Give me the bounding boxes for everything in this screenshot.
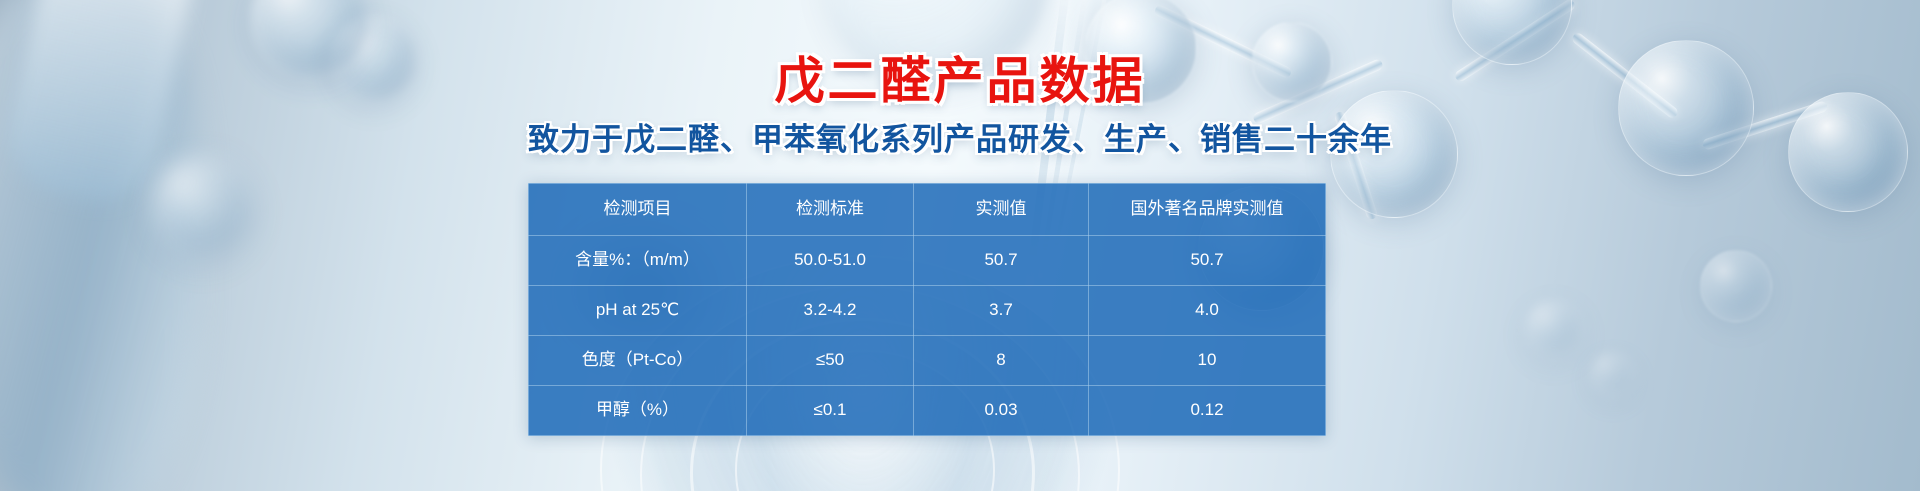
cell-test-item: 甲醇（%） bbox=[529, 386, 747, 436]
product-spec-table: 检测项目 检测标准 实测值 国外著名品牌实测值 含量%：（m/m） 50.0-5… bbox=[528, 183, 1326, 436]
cell-test-item: 色度（Pt-Co） bbox=[529, 336, 747, 386]
column-header-measured-value: 实测值 bbox=[914, 184, 1089, 236]
cell-foreign-brand: 4.0 bbox=[1089, 286, 1326, 336]
table-row: 甲醇（%） ≤0.1 0.03 0.12 bbox=[529, 386, 1326, 436]
banner-text-block: 戊二醛产品数据 致力于戊二醛、甲苯氧化系列产品研发、生产、销售二十余年 bbox=[0, 0, 1920, 160]
cell-test-standard: ≤0.1 bbox=[747, 386, 914, 436]
cell-foreign-brand: 50.7 bbox=[1089, 236, 1326, 286]
cell-test-standard: 50.0-51.0 bbox=[747, 236, 914, 286]
column-header-test-item: 检测项目 bbox=[529, 184, 747, 236]
cell-measured-value: 0.03 bbox=[914, 386, 1089, 436]
cell-measured-value: 3.7 bbox=[914, 286, 1089, 336]
column-header-test-standard: 检测标准 bbox=[747, 184, 914, 236]
cell-measured-value: 8 bbox=[914, 336, 1089, 386]
spec-table-container: 检测项目 检测标准 实测值 国外著名品牌实测值 含量%：（m/m） 50.0-5… bbox=[528, 183, 1325, 436]
cell-measured-value: 50.7 bbox=[914, 236, 1089, 286]
cell-test-item: 含量%：（m/m） bbox=[529, 236, 747, 286]
molecule-sphere-icon bbox=[150, 155, 255, 260]
page-title: 戊二醛产品数据 bbox=[0, 52, 1920, 111]
cell-foreign-brand: 0.12 bbox=[1089, 386, 1326, 436]
cell-test-standard: 3.2-4.2 bbox=[747, 286, 914, 336]
product-data-banner: 戊二醛产品数据 致力于戊二醛、甲苯氧化系列产品研发、生产、销售二十余年 检测项目… bbox=[0, 0, 1920, 491]
cell-foreign-brand: 10 bbox=[1089, 336, 1326, 386]
table-row: 色度（Pt-Co） ≤50 8 10 bbox=[529, 336, 1326, 386]
cell-test-item: pH at 25℃ bbox=[529, 286, 747, 336]
table-header-row: 检测项目 检测标准 实测值 国外著名品牌实测值 bbox=[529, 184, 1326, 236]
cell-test-standard: ≤50 bbox=[747, 336, 914, 386]
page-subtitle: 致力于戊二醛、甲苯氧化系列产品研发、生产、销售二十余年 bbox=[0, 121, 1920, 160]
table-row: pH at 25℃ 3.2-4.2 3.7 4.0 bbox=[529, 286, 1326, 336]
molecule-sphere-icon bbox=[1590, 352, 1636, 398]
column-header-foreign-brand: 国外著名品牌实测值 bbox=[1089, 184, 1326, 236]
molecule-sphere-icon bbox=[1700, 250, 1772, 322]
molecule-sphere-icon bbox=[1525, 300, 1583, 358]
table-row: 含量%：（m/m） 50.0-51.0 50.7 50.7 bbox=[529, 236, 1326, 286]
